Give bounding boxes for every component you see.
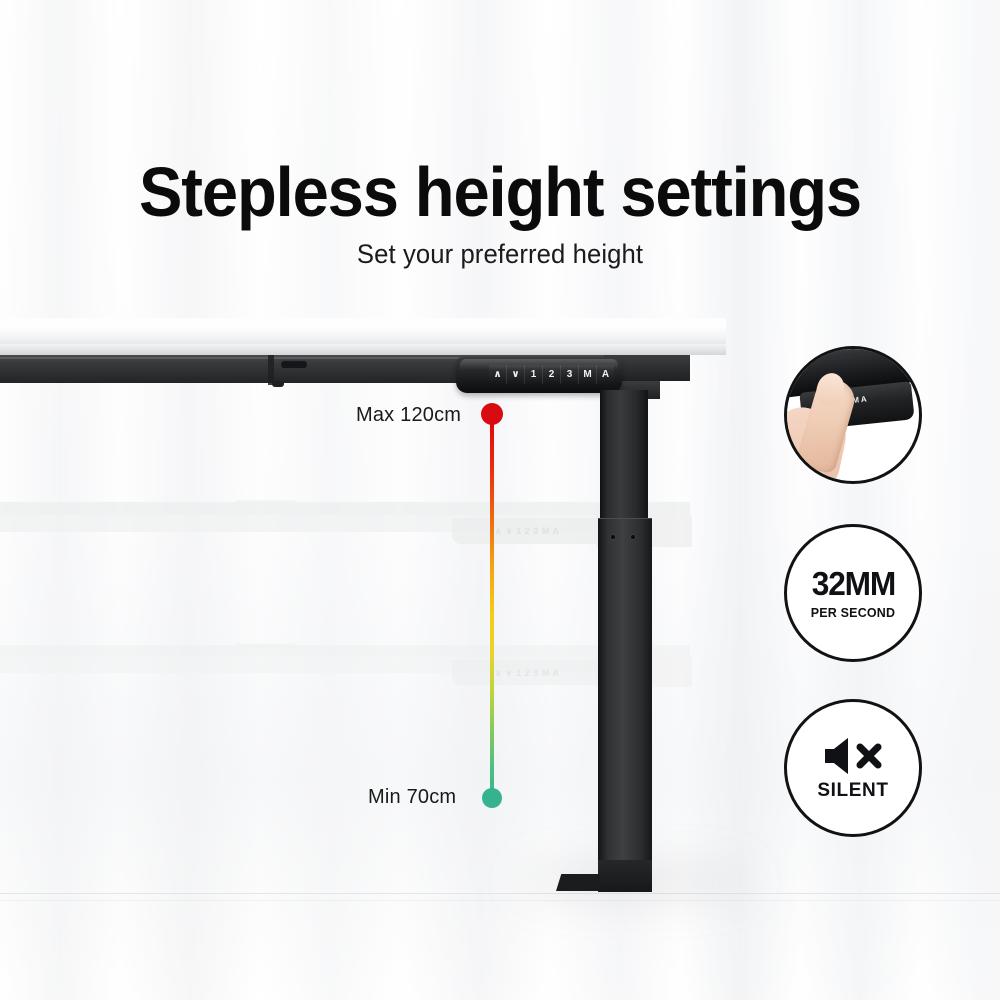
cable-port [281,360,307,368]
background-room [0,0,1000,1000]
min-height-label: Min 70cm [368,786,456,809]
leg-lower-segment [598,518,652,891]
key-preset-3[interactable]: 3 [560,365,578,384]
handset-keypad[interactable]: ∧ ∨ 1 2 3 M A [489,365,614,384]
leg-screw-hole-left [610,534,616,540]
desk-top-edge [0,344,726,355]
beam-bolt [272,381,284,387]
badge-silent: SILENT [784,699,922,837]
product-marketing-image: ∧ ∨ 1 2 3 M A ∧ ∨ 1 2 3 M A ∧ ∨ 1 2 3 M … [0,0,1000,1000]
key-memory[interactable]: M [578,365,596,384]
leg-screw-hole-right [630,534,636,540]
key-down[interactable]: ∨ [506,365,524,384]
speed-caption: PER SECOND [811,606,895,619]
badge-touch-control: 2 3 M A [784,346,922,484]
floor-line-secondary [0,900,1000,901]
ghost-panel-keys-mid: ∧ ∨ 1 2 3 M A [452,520,602,542]
key-preset-2[interactable]: 2 [542,365,560,384]
leg-foot [598,860,652,892]
page-subtitle: Set your preferred height [25,241,975,268]
max-height-marker-dot [481,403,503,425]
badge-speed: 32MM PER SECOND [784,524,922,662]
key-auto[interactable]: A [596,365,614,384]
speed-value: 32MM [811,567,894,600]
leg-upper-segment [600,390,648,518]
floor-line [0,893,1000,894]
key-preset-1[interactable]: 1 [524,365,542,384]
silent-caption: SILENT [817,781,888,800]
min-height-marker-dot [482,788,502,808]
speaker-mute-icon [822,736,884,776]
max-height-label: Max 120cm [356,404,461,427]
leg-foot-base [556,874,600,891]
desk-top-surface [0,318,726,344]
height-range-gradient-line [490,414,494,800]
key-up[interactable]: ∧ [489,365,506,384]
page-title: Stepless height settings [35,157,965,227]
ghost-panel-keys-low: ∧ ∨ 1 2 3 M A [452,662,602,684]
